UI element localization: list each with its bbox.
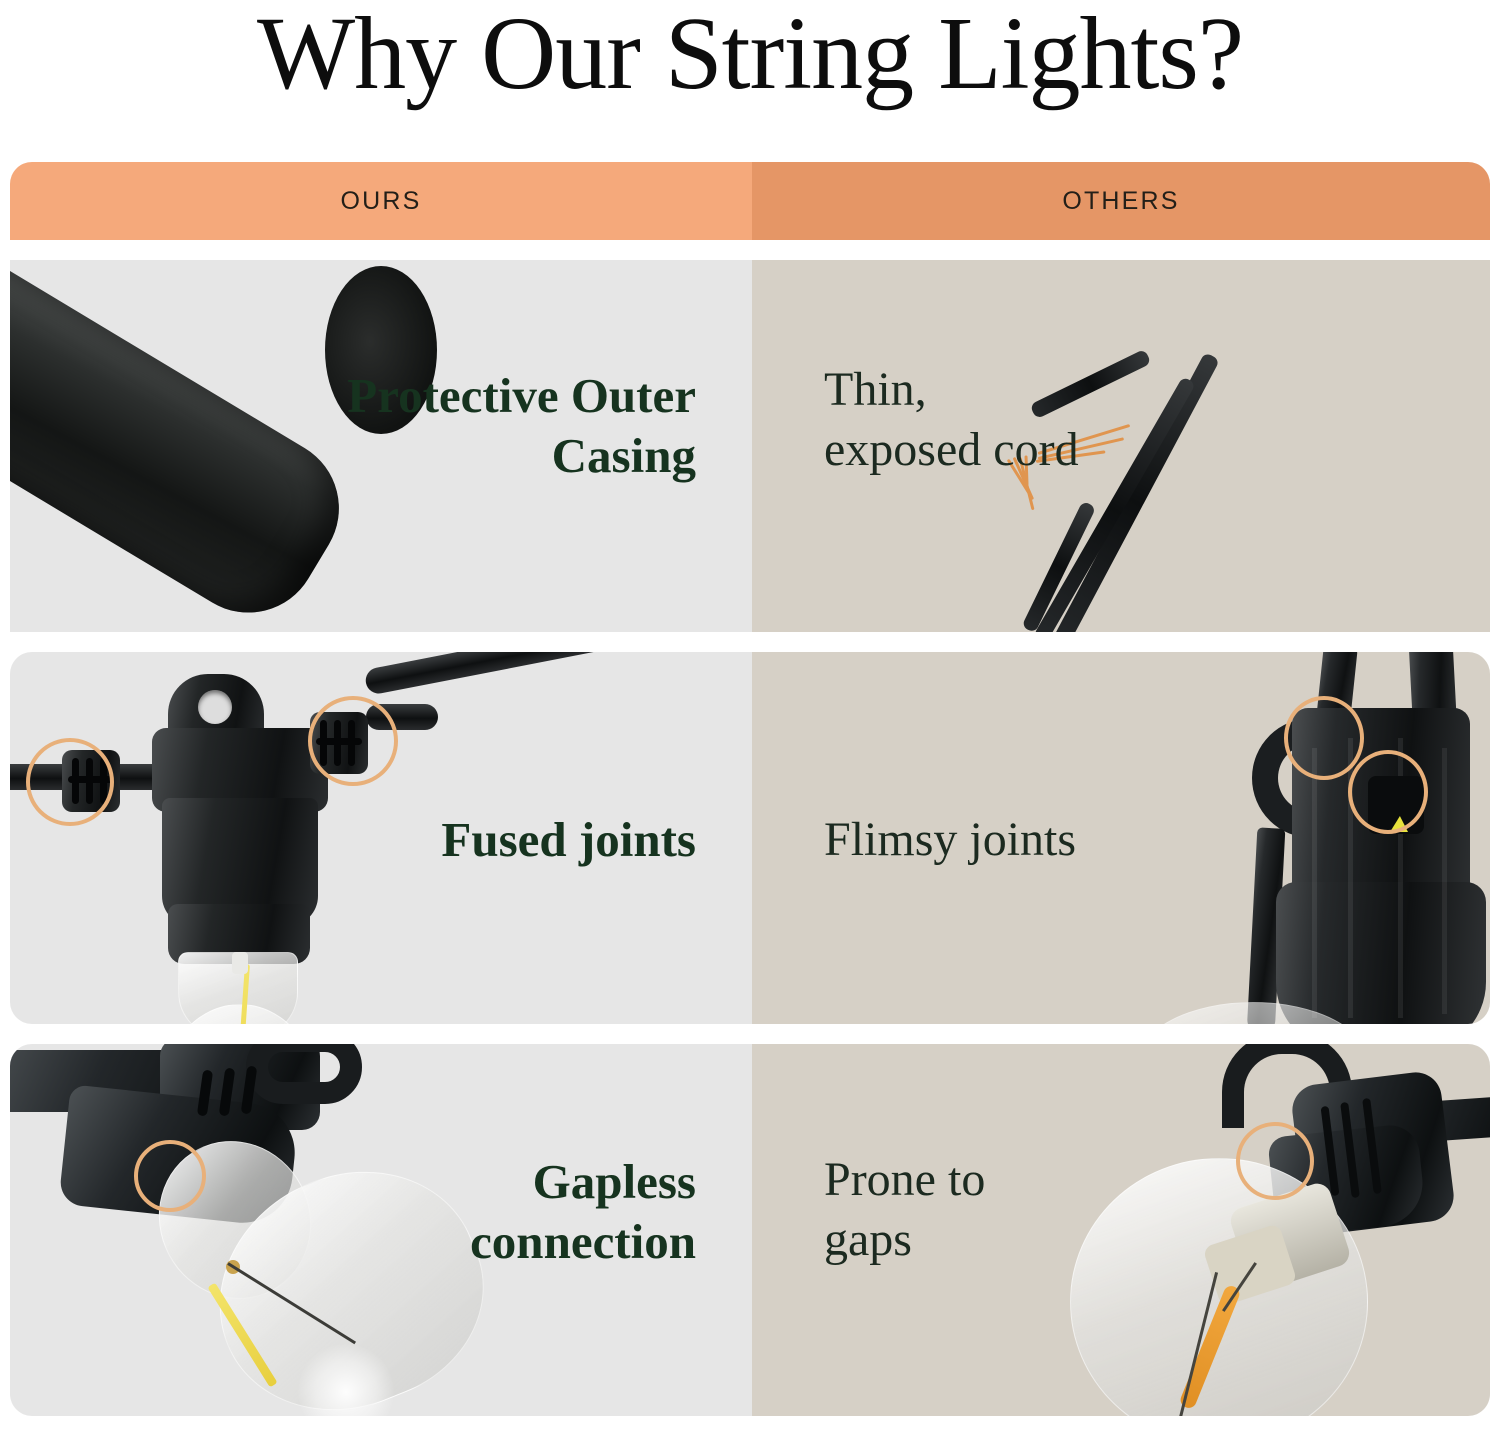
label-flimsy-joints: Flimsy joints — [824, 810, 1254, 870]
highlight-ring-flimsy-top — [1284, 696, 1364, 780]
label-prone-to-gaps: Prone togaps — [824, 1150, 1254, 1271]
cell-others-joints: Flimsy joints — [752, 652, 1490, 1024]
column-header-ours: OURS — [10, 162, 752, 240]
highlight-ring-joint-left — [26, 738, 114, 826]
column-header-others: OTHERS — [752, 162, 1490, 240]
label-thin-exposed-cord: Thin,exposed cord — [824, 360, 1254, 481]
table-row: Gaplessconnection — [10, 1044, 1490, 1416]
table-header-row: OURS OTHERS — [10, 162, 1490, 240]
table-row: Protective OuterCasing — [10, 260, 1490, 632]
cell-ours-casing: Protective OuterCasing — [10, 260, 752, 632]
cell-ours-joints: Fused joints — [10, 652, 752, 1024]
comparison-table: OURS OTHERS Protective OuterCasing — [10, 162, 1490, 1416]
table-row: Fused joints — [10, 652, 1490, 1024]
comparison-infographic: Why Our String Lights? OURS OTHERS Prote… — [0, 0, 1500, 1448]
label-gapless-connection: Gaplessconnection — [176, 1152, 696, 1272]
cell-others-connection: Prone togaps — [752, 1044, 1490, 1416]
label-protective-outer-casing: Protective OuterCasing — [176, 366, 696, 486]
cell-others-casing: Thin,exposed cord — [752, 260, 1490, 632]
highlight-ring-joint-right — [308, 696, 398, 786]
highlight-ring-flimsy-gap — [1348, 750, 1428, 834]
label-fused-joints: Fused joints — [176, 810, 696, 870]
page-title: Why Our String Lights? — [0, 0, 1500, 112]
cell-ours-connection: Gaplessconnection — [10, 1044, 752, 1416]
